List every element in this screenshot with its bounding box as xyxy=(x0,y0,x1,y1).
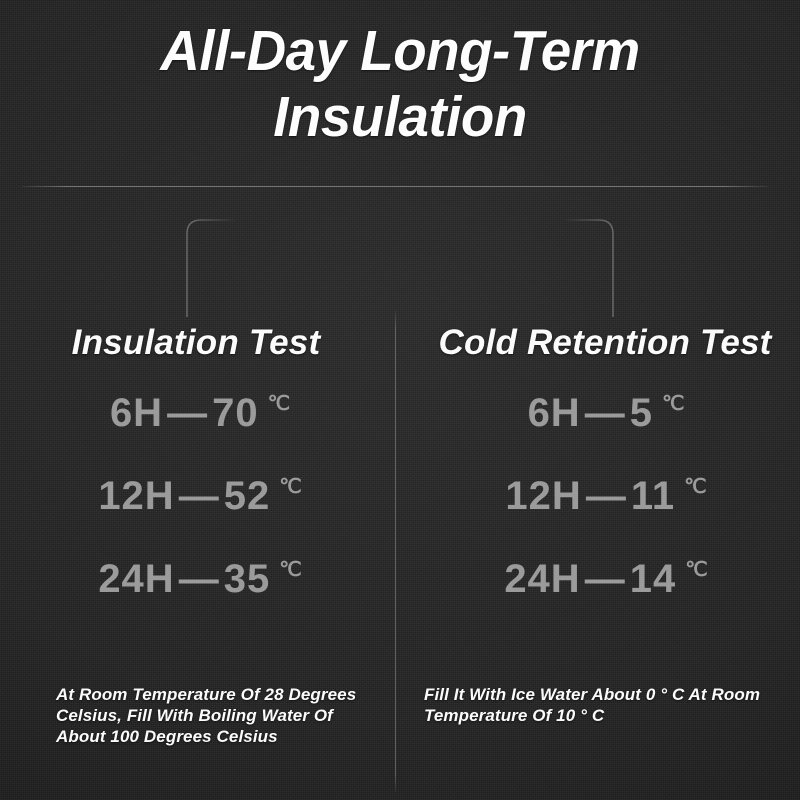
rounded-bracket-right-icon xyxy=(564,219,614,317)
page-title: All-Day Long-Term Insulation xyxy=(0,18,800,150)
caption-insulation-test: At Room Temperature Of 28 Degrees Celsiu… xyxy=(56,684,366,747)
celsius-unit-icon: ℃ xyxy=(662,383,684,425)
page-title-line-1: All-Day Long-Term xyxy=(16,18,784,84)
result-value: 14 xyxy=(630,558,677,600)
celsius-unit-icon: ℃ xyxy=(684,466,706,508)
result-value: 11 xyxy=(631,475,675,517)
result-hours: 24H xyxy=(504,558,580,600)
caption-cold-retention-test: Fill It With Ice Water About 0 ° C At Ro… xyxy=(424,684,764,726)
result-dash: — xyxy=(175,475,224,517)
celsius-unit-icon: ℃ xyxy=(268,383,290,425)
rounded-bracket-left-icon xyxy=(186,219,236,317)
result-dash: — xyxy=(581,392,630,434)
result-row: 6H — 70 ℃ xyxy=(0,392,400,441)
title-divider xyxy=(22,186,768,187)
celsius-unit-icon: ℃ xyxy=(279,466,301,508)
result-value: 52 xyxy=(224,475,271,517)
page-title-line-2: Insulation xyxy=(16,84,784,150)
result-dash: — xyxy=(582,475,631,517)
result-row: 6H — 5 ℃ xyxy=(400,392,800,441)
result-hours: 12H xyxy=(98,475,174,517)
result-rows-insulation-test: 6H — 70 ℃ 12H — 52 ℃ 24H — 35 ℃ xyxy=(0,392,400,607)
result-hours: 12H xyxy=(505,475,581,517)
result-hours: 6H xyxy=(110,392,163,434)
result-row: 24H — 14 ℃ xyxy=(400,558,800,607)
result-rows-cold-retention-test: 6H — 5 ℃ 12H — 11 ℃ 24H — 14 ℃ xyxy=(400,392,800,607)
column-heading-cold-retention-test: Cold Retention Test xyxy=(400,322,800,364)
insulation-spec-poster: All-Day Long-Term Insulation xyxy=(0,0,800,800)
result-dash: — xyxy=(581,558,630,600)
result-value: 5 xyxy=(630,392,653,434)
result-value: 70 xyxy=(212,392,259,434)
result-row: 24H — 35 ℃ xyxy=(0,558,400,607)
result-row: 12H — 52 ℃ xyxy=(0,475,400,524)
column-heading-insulation-test: Insulation Test xyxy=(0,322,400,364)
celsius-unit-icon: ℃ xyxy=(279,549,301,591)
result-value: 35 xyxy=(224,558,271,600)
result-dash: — xyxy=(163,392,212,434)
result-dash: — xyxy=(175,558,224,600)
celsius-unit-icon: ℃ xyxy=(685,549,707,591)
result-hours: 6H xyxy=(528,392,581,434)
captions: At Room Temperature Of 28 Degrees Celsiu… xyxy=(0,684,800,794)
result-hours: 24H xyxy=(98,558,174,600)
result-row: 12H — 11 ℃ xyxy=(400,475,800,524)
